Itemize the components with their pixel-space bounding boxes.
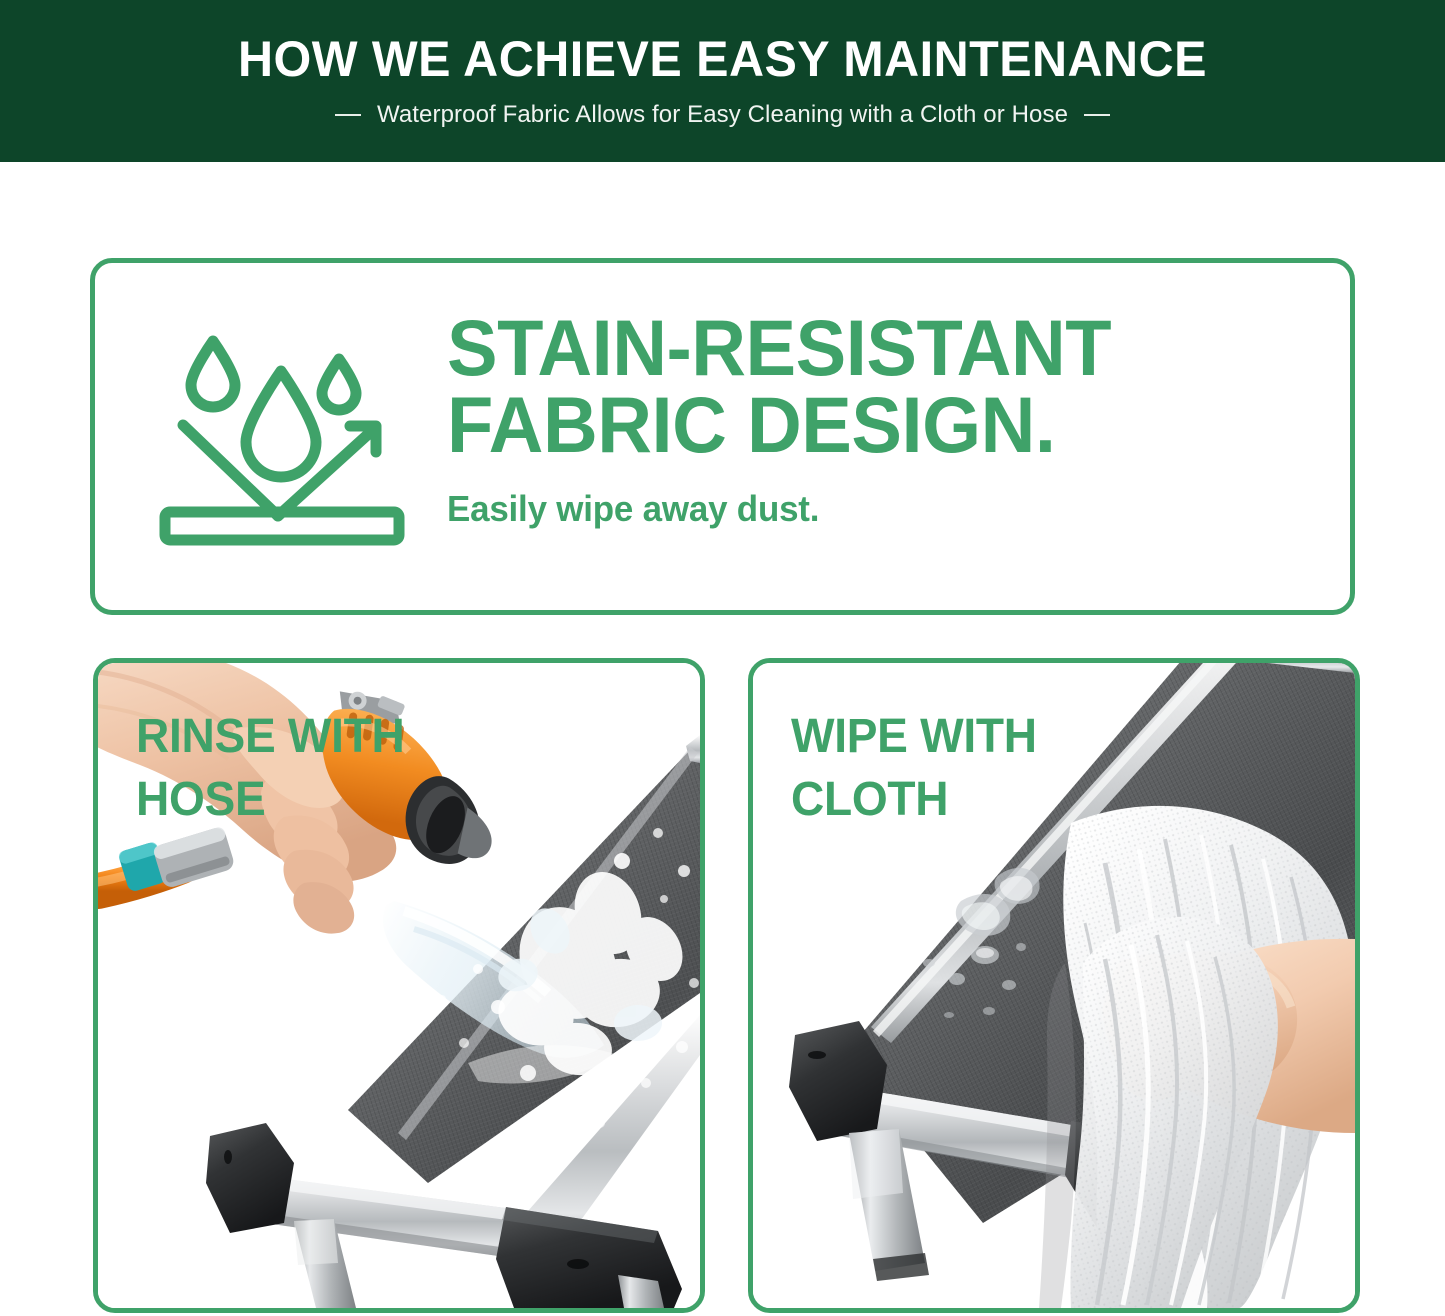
feature-headline-line1: STAIN-RESISTANT <box>447 303 1111 392</box>
card-wipe-with-cloth: WIPE WITH CLOTH <box>748 658 1360 1313</box>
feature-card-stain-resistant: STAIN-RESISTANT FABRIC DESIGN. Easily wi… <box>90 258 1355 615</box>
feature-card-body: STAIN-RESISTANT FABRIC DESIGN. Easily wi… <box>95 263 1350 610</box>
page-subtitle: Waterproof Fabric Allows for Easy Cleani… <box>377 101 1068 129</box>
header-banner: HOW WE ACHIEVE EASY MAINTENANCE Waterpro… <box>0 0 1445 162</box>
dash-right-icon <box>1084 114 1110 116</box>
hand-wiping-cot-with-cloth-photo <box>753 663 1355 1308</box>
feature-subline: Easily wipe away dust. <box>447 488 1304 530</box>
hand-spraying-hose-on-pet-cot-photo <box>98 663 700 1308</box>
feature-headline-line2: FABRIC DESIGN. <box>447 386 1295 463</box>
dash-left-icon <box>335 114 361 116</box>
page-title: HOW WE ACHIEVE EASY MAINTENANCE <box>238 33 1207 86</box>
subtitle-row: Waterproof Fabric Allows for Easy Cleani… <box>335 101 1110 129</box>
card-rinse-with-hose: RINSE WITH HOSE <box>93 658 705 1313</box>
feature-headline: STAIN-RESISTANT FABRIC DESIGN. <box>447 309 1295 464</box>
feature-card-text: STAIN-RESISTANT FABRIC DESIGN. Easily wi… <box>447 309 1330 530</box>
water-repellent-fabric-icon <box>157 329 407 554</box>
infographic-page: HOW WE ACHIEVE EASY MAINTENANCE Waterpro… <box>0 0 1445 1316</box>
